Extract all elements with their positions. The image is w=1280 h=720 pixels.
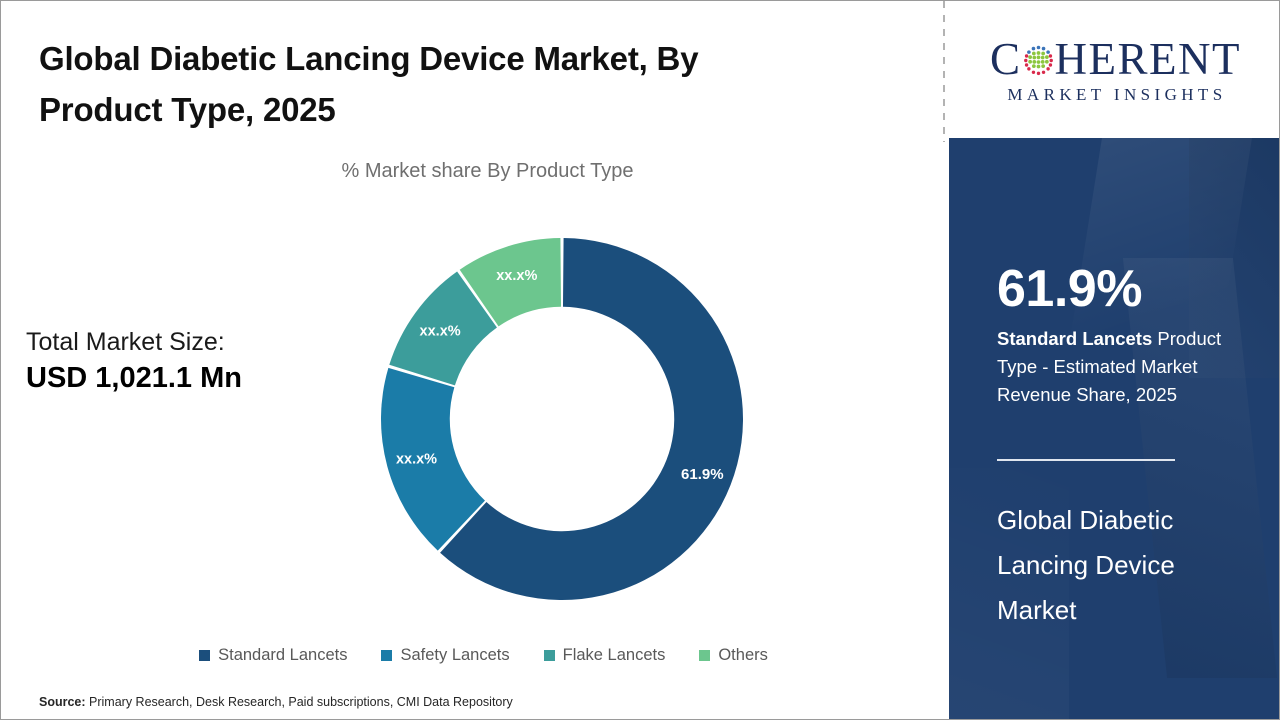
logo[interactable]: C bbox=[949, 1, 1280, 138]
total-market-size-value: USD 1,021.1 Mn bbox=[26, 359, 326, 397]
divider-rule bbox=[997, 459, 1175, 461]
donut-chart: 61.9%xx.x%xx.x%xx.x% bbox=[379, 233, 745, 605]
globe-dots-icon bbox=[1023, 45, 1054, 76]
total-market-size-label: Total Market Size: bbox=[26, 325, 326, 359]
chart-legend: Standard LancetsSafety LancetsFlake Lanc… bbox=[1, 646, 944, 665]
legend-item[interactable]: Others bbox=[699, 646, 768, 665]
legend-label: Flake Lancets bbox=[563, 646, 666, 665]
page-title: Global Diabetic Lancing Device Market, B… bbox=[39, 33, 829, 135]
stat-description-strong: Standard Lancets bbox=[997, 328, 1152, 349]
source-text: Primary Research, Desk Research, Paid su… bbox=[86, 695, 513, 709]
brand-panel: C bbox=[949, 1, 1280, 719]
donut-slices bbox=[381, 238, 743, 600]
chart-panel: Global Diabetic Lancing Device Market, B… bbox=[1, 1, 944, 719]
legend-label: Standard Lancets bbox=[218, 646, 347, 665]
total-market-size-block: Total Market Size: USD 1,021.1 Mn bbox=[26, 325, 326, 397]
donut-chart-svg: 61.9%xx.x%xx.x%xx.x% bbox=[379, 233, 745, 605]
infographic-slide: Global Diabetic Lancing Device Market, B… bbox=[0, 0, 1280, 720]
legend-swatch bbox=[199, 650, 210, 661]
source-label: Source: bbox=[39, 695, 86, 709]
logo-word-herent: HERENT bbox=[1055, 35, 1241, 83]
legend-item[interactable]: Standard Lancets bbox=[199, 646, 347, 665]
logo-word-c: C bbox=[990, 35, 1022, 83]
slice-data-label: xx.x% bbox=[420, 323, 461, 339]
stat-value: 61.9% bbox=[997, 260, 1259, 318]
slice-data-label: 61.9% bbox=[681, 466, 724, 483]
legend-label: Safety Lancets bbox=[400, 646, 509, 665]
panel-divider bbox=[943, 1, 945, 142]
legend-swatch bbox=[544, 650, 555, 661]
slice-data-label: xx.x% bbox=[496, 268, 537, 284]
logo-wordmark: C bbox=[990, 35, 1241, 83]
market-name: Global Diabetic Lancing Device Market bbox=[997, 498, 1247, 633]
legend-label: Others bbox=[718, 646, 768, 665]
stat-description: Standard Lancets Product Type - Estimate… bbox=[997, 325, 1259, 409]
source-note: Source: Primary Research, Desk Research,… bbox=[39, 695, 513, 709]
brand-panel-body: 61.9% Standard Lancets Product Type - Es… bbox=[949, 138, 1280, 719]
legend-item[interactable]: Flake Lancets bbox=[544, 646, 666, 665]
chart-subtitle: % Market share By Product Type bbox=[1, 160, 944, 183]
logo-tagline: MARKET INSIGHTS bbox=[1007, 85, 1226, 105]
highlight-stat: 61.9% Standard Lancets Product Type - Es… bbox=[997, 260, 1259, 409]
slice-data-label: xx.x% bbox=[396, 451, 437, 467]
legend-item[interactable]: Safety Lancets bbox=[381, 646, 509, 665]
legend-swatch bbox=[381, 650, 392, 661]
legend-swatch bbox=[699, 650, 710, 661]
